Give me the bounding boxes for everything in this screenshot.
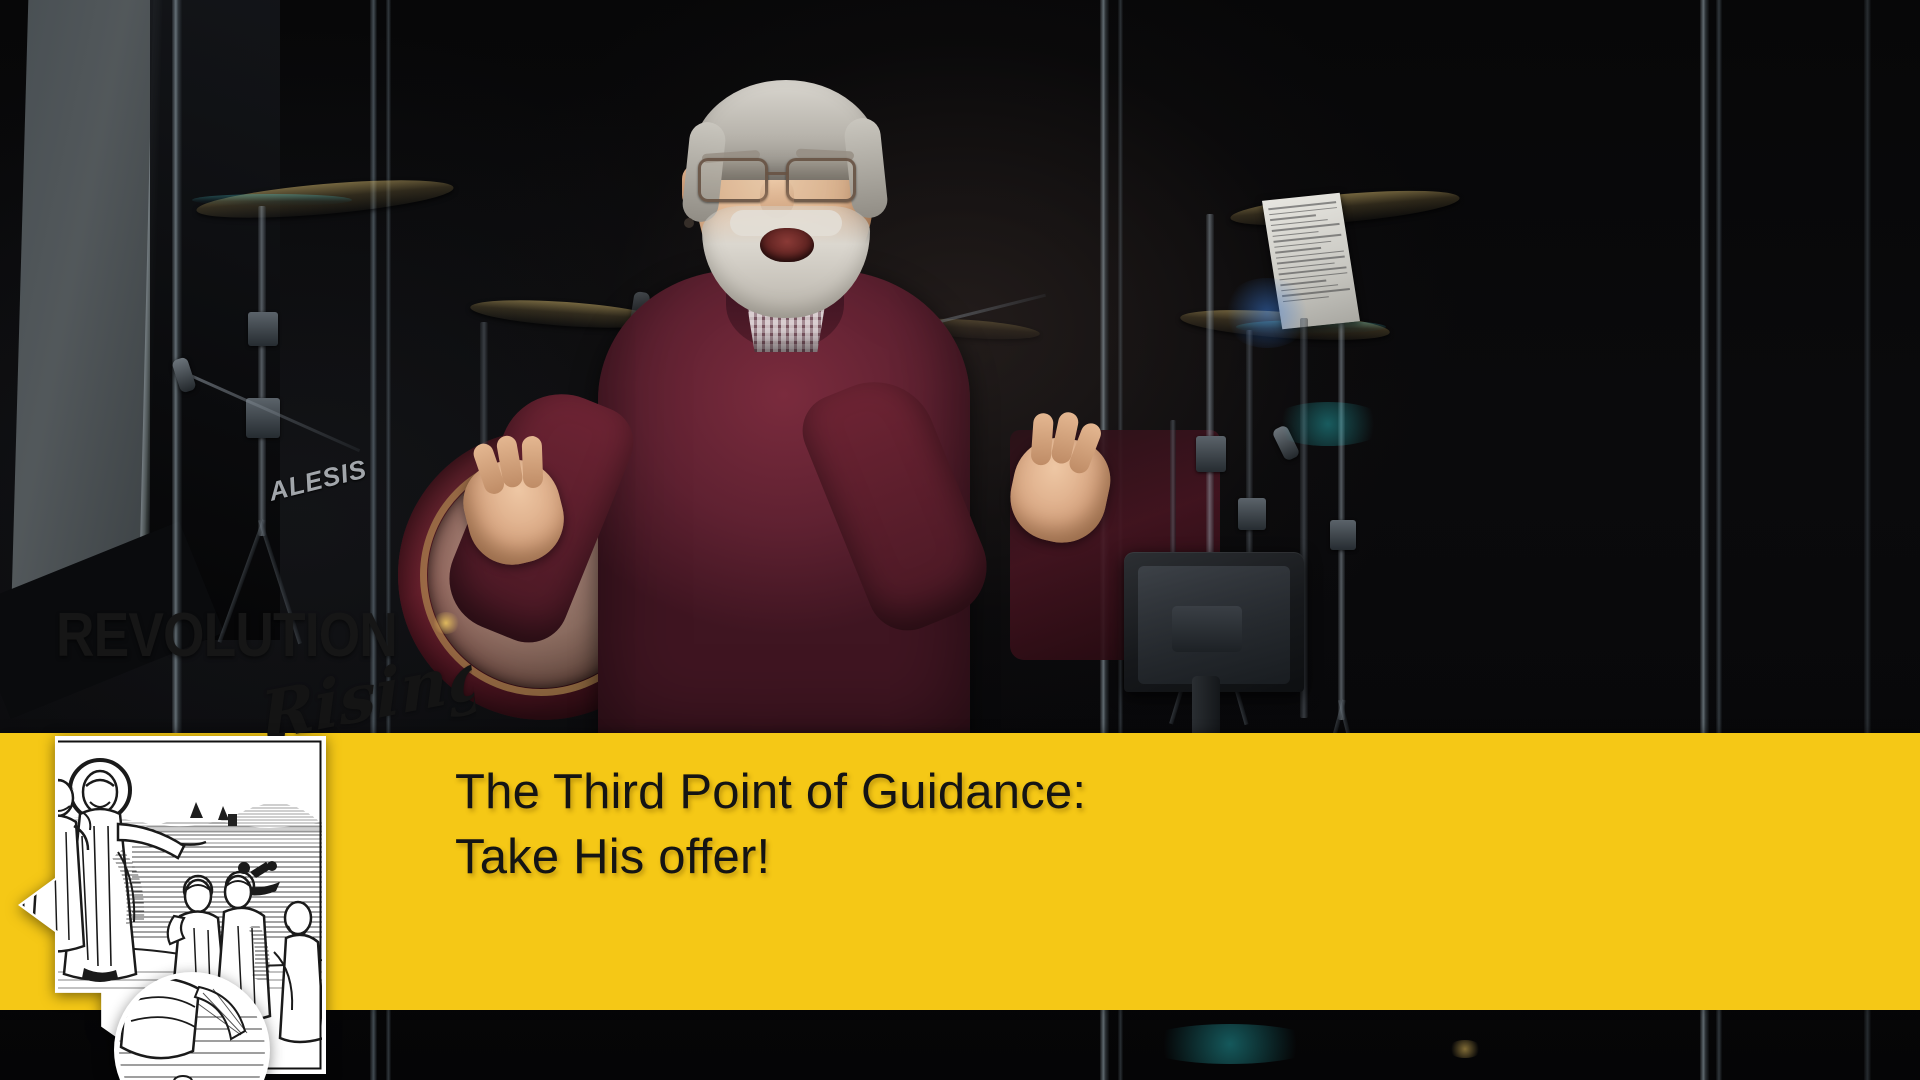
stand-clamp <box>1196 436 1226 472</box>
cymbal-edge-light <box>192 194 352 206</box>
series-woodcut-badge <box>18 736 326 1074</box>
speaker-hand-right <box>1002 429 1118 551</box>
mic-stand <box>1338 300 1345 720</box>
stage-light-teal <box>1268 402 1388 446</box>
stand-clamp <box>1330 520 1356 550</box>
speaker-mouth <box>760 228 814 262</box>
lavalier-microphone <box>684 218 694 228</box>
screen: ALESIS <box>0 0 1920 1080</box>
tablet-case-stand <box>1172 606 1242 652</box>
stand-clamp <box>1238 498 1266 530</box>
wall-panel-left <box>12 0 161 600</box>
stage-light-blue <box>1222 278 1312 348</box>
stage-light-teal <box>1140 1024 1320 1064</box>
eyeglasses-lens-left <box>698 158 768 202</box>
eyeglasses-bridge <box>766 172 788 175</box>
sermon-point-title: The Third Point of Guidance: Take His of… <box>455 760 1655 890</box>
stage-light-warm <box>1448 1040 1482 1058</box>
cymbal-stand <box>1206 214 1214 594</box>
eyeglasses-lens-right <box>786 158 856 202</box>
stand-clamp <box>248 312 278 346</box>
cymbal-stand <box>258 206 266 536</box>
